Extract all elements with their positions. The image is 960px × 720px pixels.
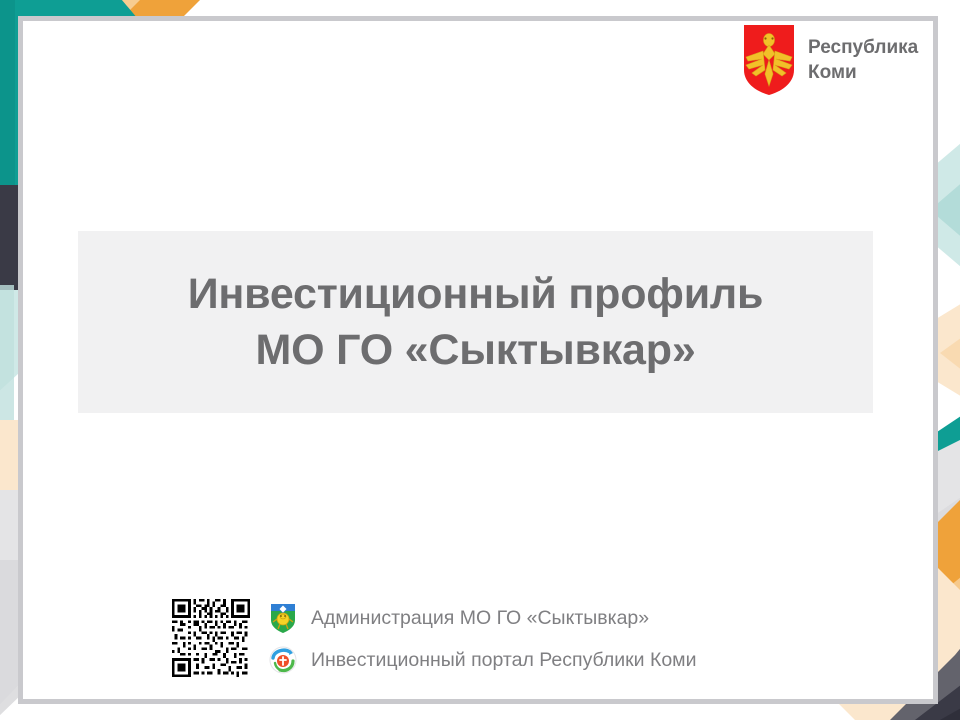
investment-portal-logo-icon bbox=[268, 644, 298, 676]
komi-coat-of-arms-icon bbox=[742, 24, 796, 96]
deco-bottom-right-navy-2 bbox=[940, 680, 960, 720]
syktyvkar-coat-of-arms-icon bbox=[268, 602, 298, 634]
footer: Администрация МО ГО «Сыктывкар» Инвестиц… bbox=[172, 598, 696, 678]
slide-root: РеспубликаКоми Инвестиционный профиль МО… bbox=[0, 0, 960, 720]
page-title-line-1: Инвестиционный профиль bbox=[188, 266, 764, 322]
footer-row-investment-portal[interactable]: Инвестиционный портал Республики Коми bbox=[268, 642, 696, 678]
title-panel: Инвестиционный профиль МО ГО «Сыктывкар» bbox=[78, 231, 873, 413]
komi-republic-logo: РеспубликаКоми bbox=[742, 24, 918, 96]
footer-label-investment-portal: Инвестиционный портал Республики Коми bbox=[311, 648, 696, 672]
qr-code-icon[interactable] bbox=[172, 598, 250, 678]
logo-line-1: Республика bbox=[808, 37, 918, 58]
footer-label-administration: Администрация МО ГО «Сыктывкар» bbox=[311, 606, 649, 630]
komi-republic-logo-label: РеспубликаКоми bbox=[808, 35, 918, 85]
page-title-line-2: МО ГО «Сыктывкар» bbox=[255, 322, 695, 378]
deco-left-strip-teal bbox=[0, 285, 14, 445]
deco-right-orange-pale bbox=[940, 310, 960, 400]
deco-bottom-right-orange-pale bbox=[945, 545, 960, 640]
deco-right-teal-dark bbox=[950, 395, 960, 520]
footer-links: Администрация МО ГО «Сыктывкар» Инвестиц… bbox=[268, 598, 696, 678]
footer-row-administration[interactable]: Администрация МО ГО «Сыктывкар» bbox=[268, 600, 696, 636]
logo-line-2: Коми bbox=[808, 62, 857, 83]
deco-top-left-teal-dark bbox=[0, 0, 15, 265]
